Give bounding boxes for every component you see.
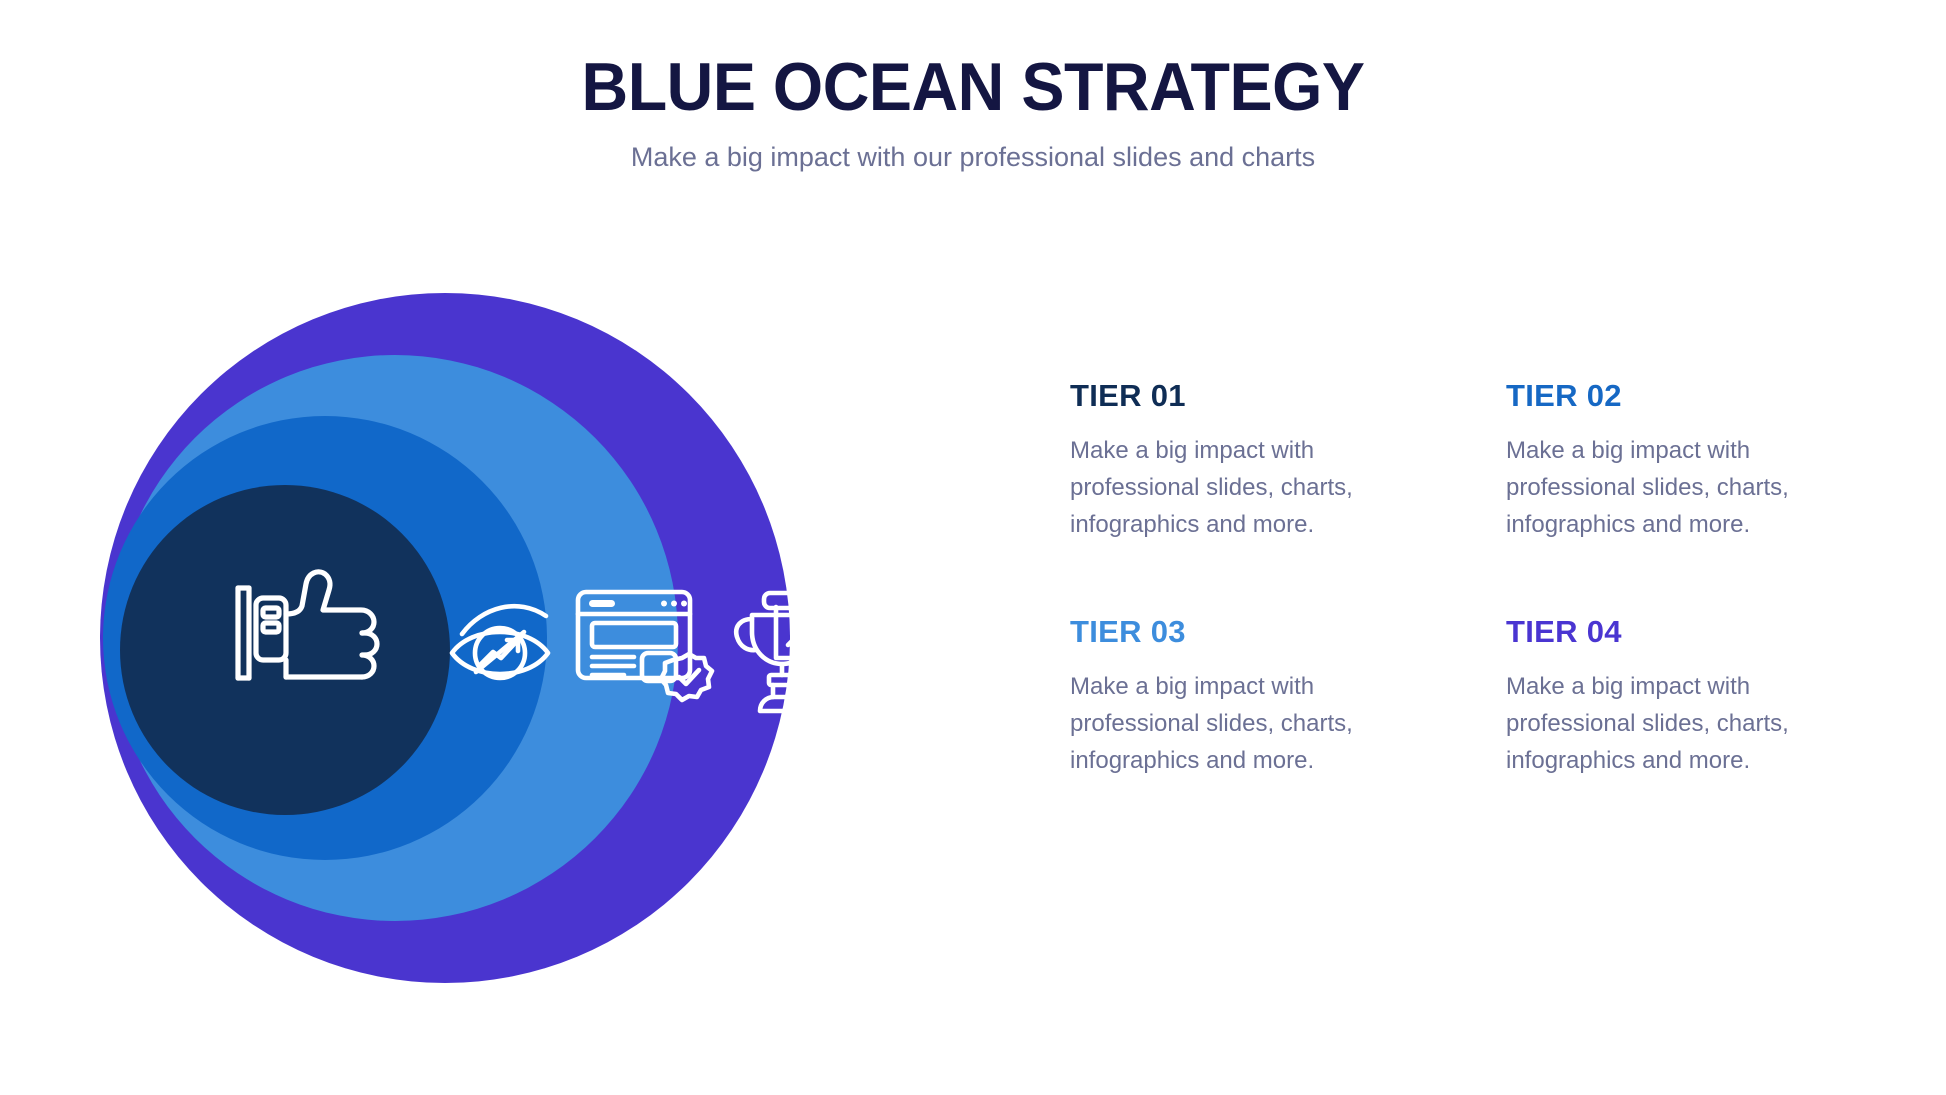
tier-title-04: TIER 04 [1506, 616, 1836, 647]
tier-card-03[interactable]: TIER 03 Make a big impact with professio… [1070, 616, 1400, 780]
tier-card-04[interactable]: TIER 04 Make a big impact with professio… [1506, 616, 1836, 780]
tier-title-01: TIER 01 [1070, 380, 1400, 411]
tier-card-02[interactable]: TIER 02 Make a big impact with professio… [1506, 380, 1836, 544]
tier-list: TIER 01 Make a big impact with professio… [1070, 380, 1870, 780]
tier-description-01: Make a big impact with professional slid… [1070, 433, 1388, 544]
tier-title-03: TIER 03 [1070, 616, 1400, 647]
tier-title-02: TIER 02 [1506, 380, 1836, 411]
tier-description-02: Make a big impact with professional slid… [1506, 433, 1824, 544]
tier-description-03: Make a big impact with professional slid… [1070, 669, 1388, 780]
tier-description-04: Make a big impact with professional slid… [1506, 669, 1824, 780]
tier-card-01[interactable]: TIER 01 Make a big impact with professio… [1070, 380, 1400, 544]
nested-circles-diagram [0, 0, 1060, 1095]
